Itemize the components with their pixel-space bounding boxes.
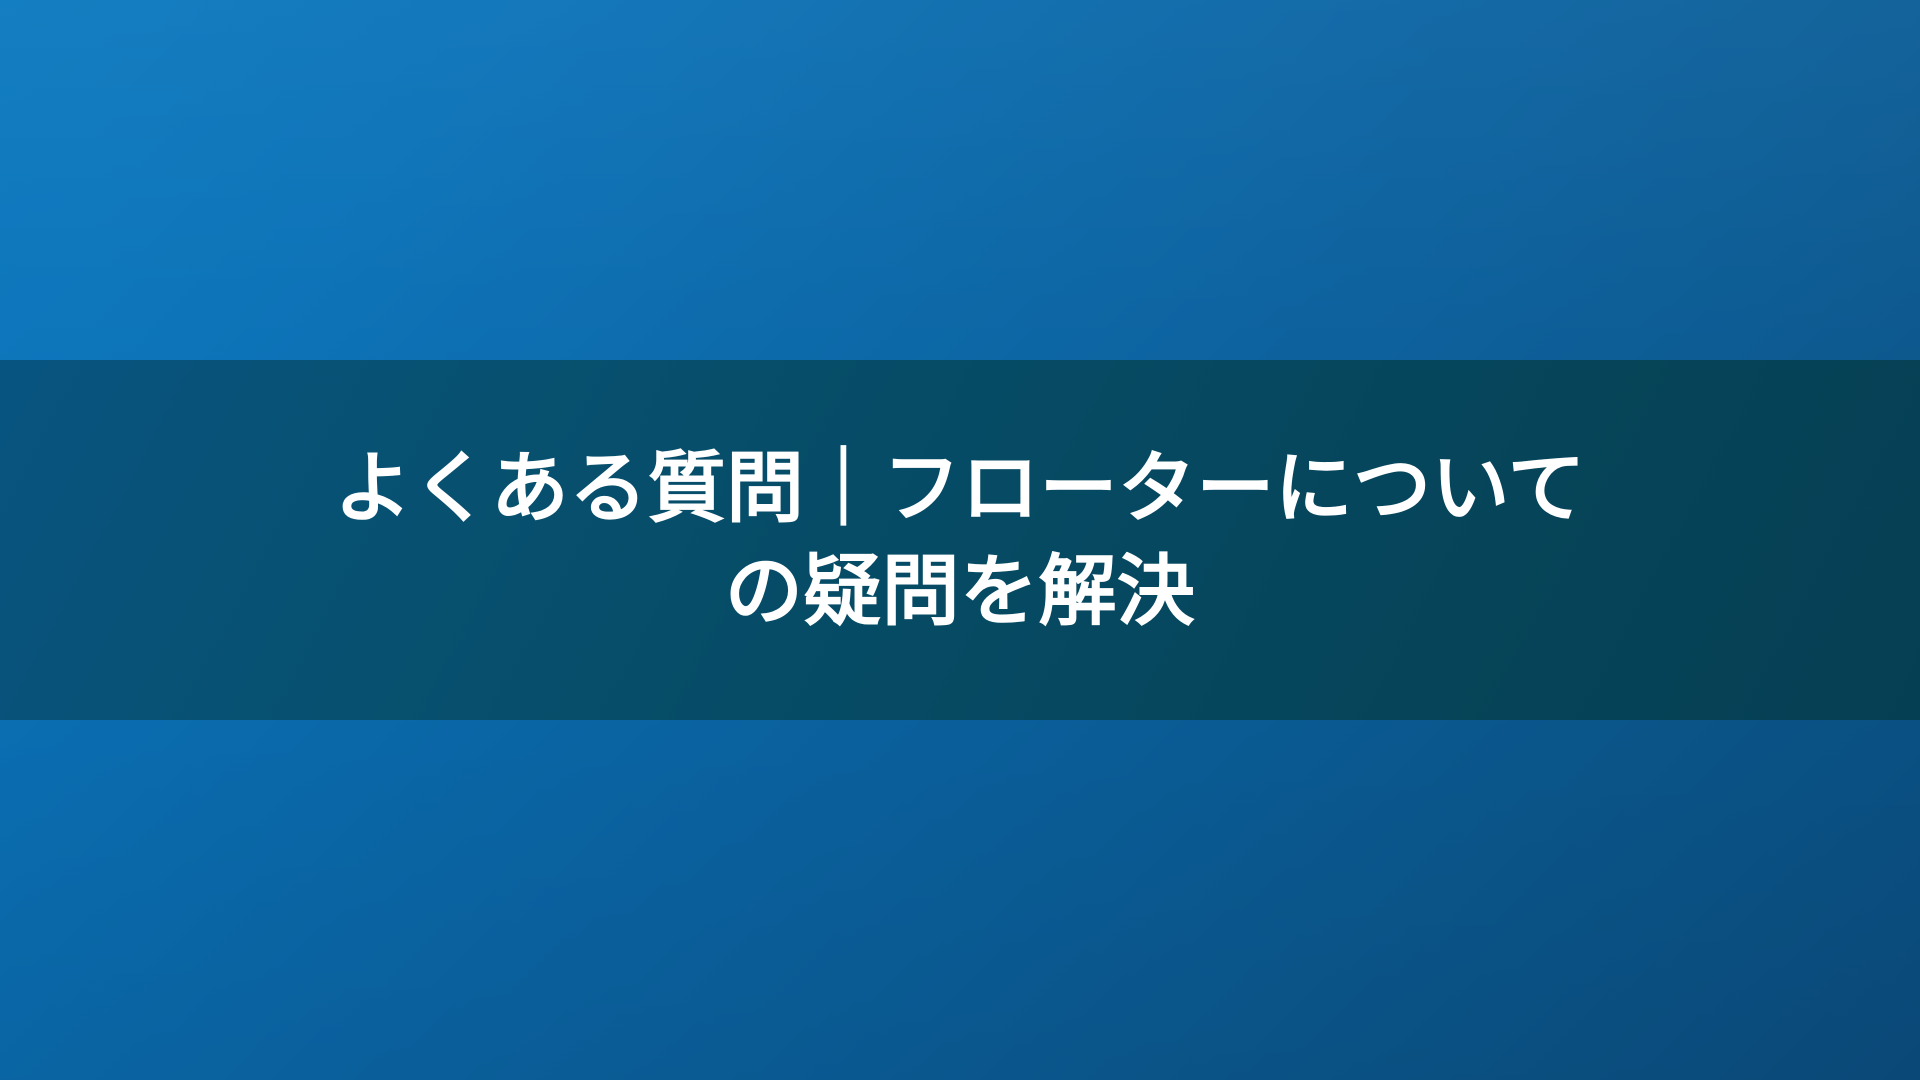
- title-slide: よくある質問｜フローターについて の疑問を解決: [0, 0, 1920, 1080]
- page-title: よくある質問｜フローターについて の疑問を解決: [180, 437, 1740, 643]
- title-band: よくある質問｜フローターについて の疑問を解決: [0, 360, 1920, 720]
